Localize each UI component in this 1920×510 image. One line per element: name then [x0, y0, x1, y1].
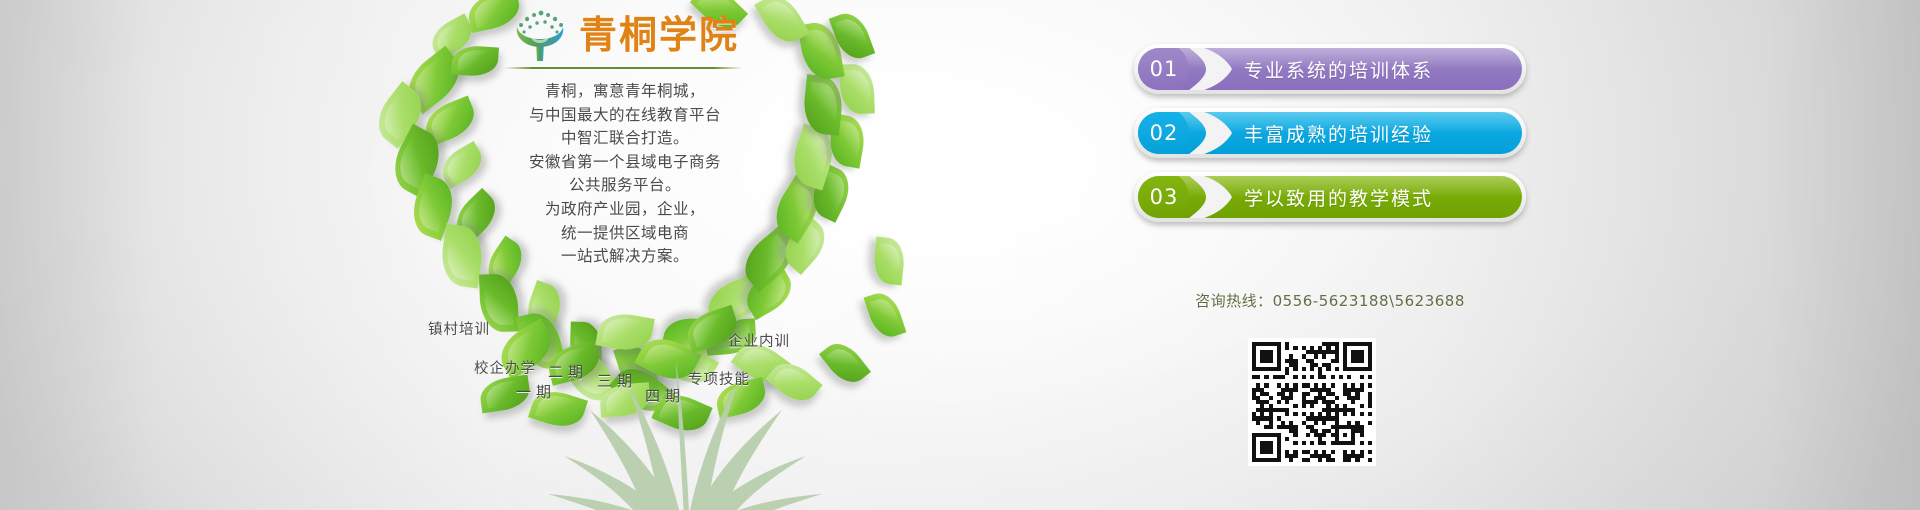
feature-number: 01 [1138, 48, 1190, 90]
ground-category-label: 校企办学 [474, 357, 536, 378]
hotline-text: 咨询热线：0556-5623188\5623688 [1134, 290, 1526, 311]
lens-arrow-icon [1184, 112, 1232, 154]
lens-arrow-icon [1184, 176, 1232, 218]
ground-stage-label: 三期 [597, 370, 637, 391]
description-line: 公共服务平台。 [470, 174, 780, 198]
ground-category-label: 镇村培训 [428, 318, 490, 339]
feature-label: 学以致用的教学模式 [1244, 184, 1433, 211]
description-line: 青桐，寓意青年桐城， [470, 80, 780, 104]
brand-divider [504, 67, 742, 69]
description-line: 为政府产业园，企业， [470, 198, 780, 222]
ground-stage-label: 一期 [516, 381, 556, 402]
description-line: 统一提供区域电商 [470, 222, 780, 246]
background-sheen [0, 0, 1920, 510]
leaf-icon [864, 288, 907, 341]
leaf-icon [839, 63, 875, 114]
feature-label: 丰富成熟的培训经验 [1244, 120, 1433, 147]
feature-number: 03 [1138, 176, 1190, 218]
ground-stage-label: 二期 [548, 361, 588, 382]
leaf-icon [872, 237, 907, 286]
description-paragraph: 青桐，寓意青年桐城， 与中国最大的在线教育平台 中智汇联合打造。 安徽省第一个县… [470, 80, 780, 269]
brand-name: 青桐学院 [579, 16, 739, 54]
ground-stage-label: 四期 [645, 385, 685, 406]
qr-code-image[interactable] [1248, 338, 1376, 466]
brand-logo-block: 青桐学院 [492, 6, 754, 69]
description-line: 中智汇联合打造。 [470, 127, 780, 151]
ground-category-label: 企业内训 [728, 330, 790, 351]
description-line: 与中国最大的在线教育平台 [470, 104, 780, 128]
description-line: 安徽省第一个县域电子商务 [470, 151, 780, 175]
background-vignette [0, 0, 1920, 510]
description-line: 一站式解决方案。 [470, 245, 780, 269]
banner-root: 青桐学院 青桐，寓意青年桐城， 与中国最大的在线教育平台 中智汇联合打造。 安徽… [0, 0, 1920, 510]
lens-arrow-icon [1184, 48, 1232, 90]
feature-label: 专业系统的培训体系 [1244, 56, 1433, 83]
ground-category-label: 专项技能 [688, 368, 750, 389]
feature-item-01[interactable]: 01 专业系统的培训体系 [1134, 44, 1526, 94]
tree-logo-icon [507, 7, 573, 63]
feature-list: 01 专业系统的培训体系 02 丰富成熟的培训经验 03 学以致用的 [1134, 44, 1526, 236]
leaf-icon [819, 336, 871, 391]
feature-item-03[interactable]: 03 学以致用的教学模式 [1134, 172, 1526, 222]
feature-number: 02 [1138, 112, 1190, 154]
feature-item-02[interactable]: 02 丰富成熟的培训经验 [1134, 108, 1526, 158]
